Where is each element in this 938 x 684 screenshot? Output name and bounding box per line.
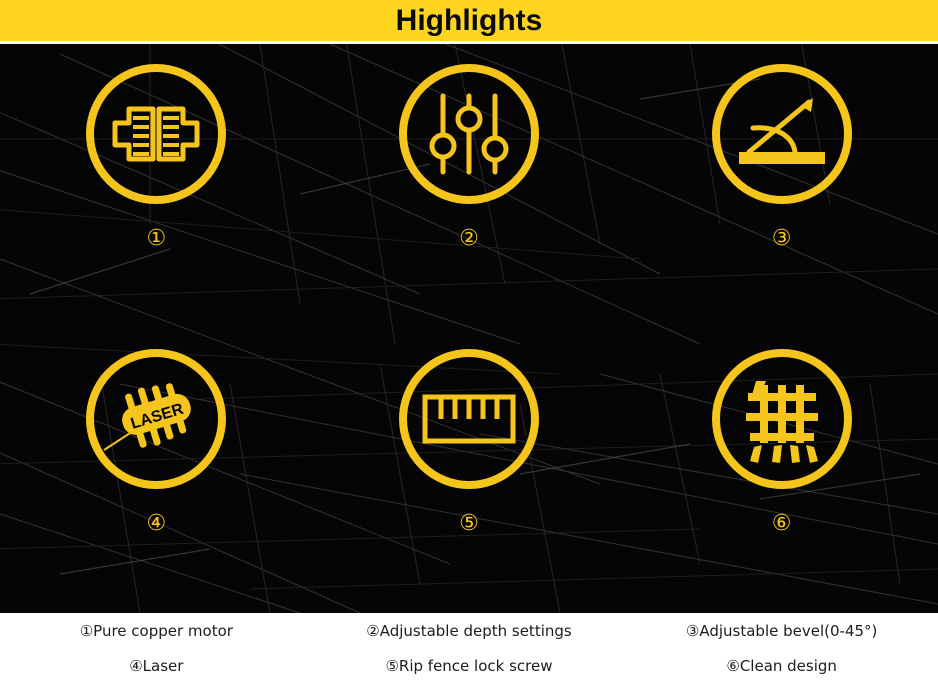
wu-character-icon <box>736 373 828 465</box>
badge-number-3: ③ <box>772 228 792 250</box>
page-title: Highlights <box>396 6 543 36</box>
highlights-page: Highlights <box>0 0 938 684</box>
badge-number-1: ① <box>146 228 166 250</box>
highlight-item-1[interactable]: ① <box>0 44 313 329</box>
caption-6: ⑥Clean design <box>726 657 837 675</box>
badge-number-4: ④ <box>146 513 166 535</box>
caption-5: ⑤Rip fence lock screw <box>385 657 552 675</box>
caption-3: ③Adjustable bevel(0-45°) <box>686 622 877 640</box>
highlight-item-6[interactable]: ⑥ <box>625 329 938 614</box>
caption-2: ②Adjustable depth settings <box>366 622 571 640</box>
icon-ring-1 <box>86 64 226 204</box>
highlight-item-3[interactable]: ③ <box>625 44 938 329</box>
highlights-grid: ① <box>0 44 938 613</box>
sliders-icon <box>429 92 509 176</box>
motor-icon <box>109 97 203 171</box>
icon-ring-6 <box>712 349 852 489</box>
caption-1: ①Pure copper motor <box>80 622 233 640</box>
icon-ring-5 <box>399 349 539 489</box>
highlight-item-4[interactable]: LASER ④ <box>0 329 313 614</box>
bevel-angle-icon <box>735 94 829 174</box>
ruler-icon <box>421 391 517 447</box>
icon-ring-4: LASER <box>86 349 226 489</box>
laser-icon: LASER <box>102 376 210 462</box>
highlight-item-2[interactable]: ② <box>313 44 626 329</box>
icon-ring-3 <box>712 64 852 204</box>
highlight-item-5[interactable]: ⑤ <box>313 329 626 614</box>
badge-number-2: ② <box>459 228 479 250</box>
caption-4: ④Laser <box>129 657 183 675</box>
hero-section: ① <box>0 44 938 613</box>
badge-number-6: ⑥ <box>772 513 792 535</box>
icon-ring-2 <box>399 64 539 204</box>
badge-number-5: ⑤ <box>459 513 479 535</box>
caption-strip: ①Pure copper motor ②Adjustable depth set… <box>0 613 938 684</box>
header-banner: Highlights <box>0 0 938 41</box>
